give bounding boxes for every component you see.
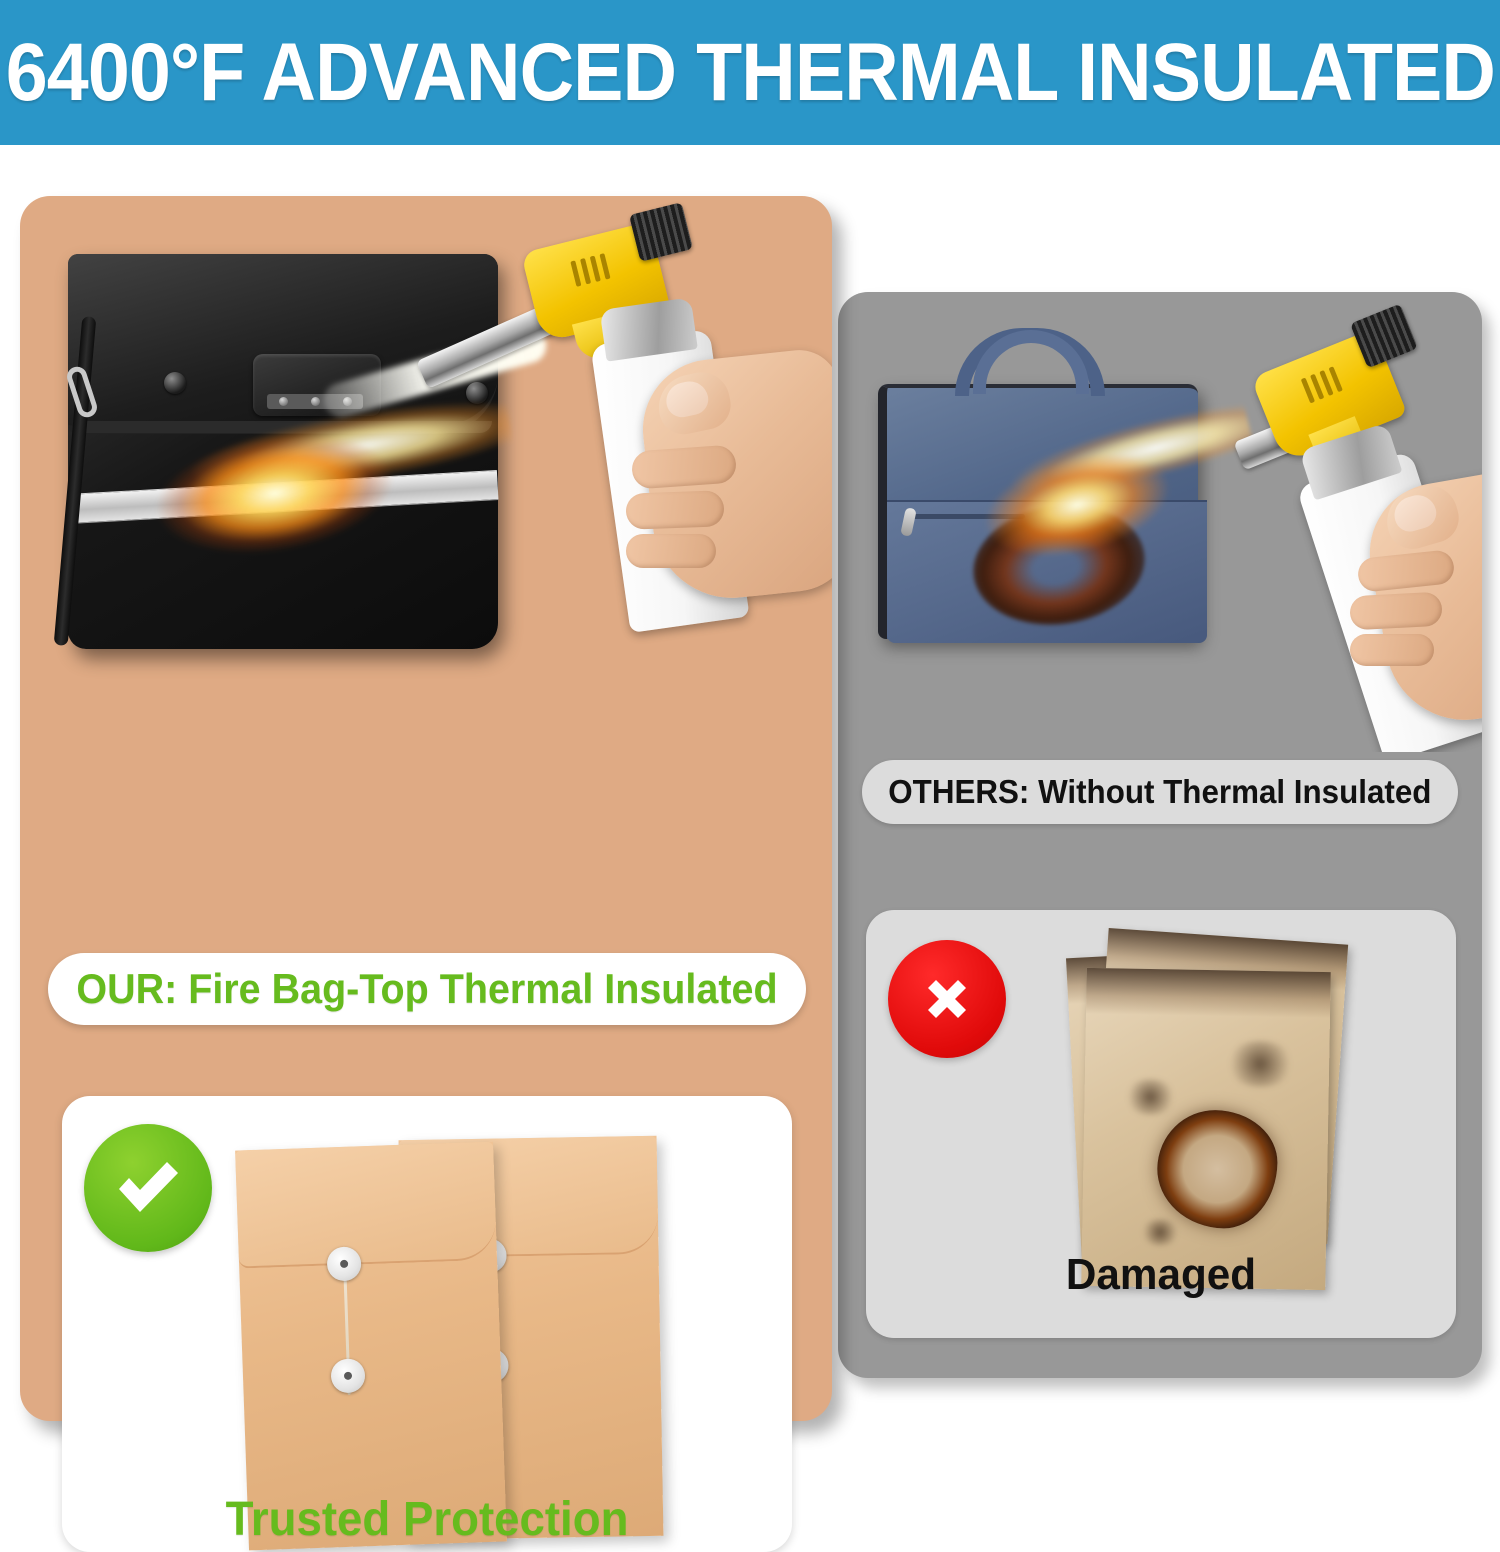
canister-neck: [600, 297, 698, 361]
paper-sheet: [1081, 968, 1331, 1290]
our-label-pill: OUR: Fire Bag-Top Thermal Insulated: [48, 953, 806, 1025]
panel-others: OTHERS: Without Thermal Insulated D: [838, 292, 1482, 1378]
page-title: 6400°F ADVANCED THERMAL INSULATED: [5, 26, 1494, 120]
finger: [1349, 592, 1443, 631]
torch-vents: [570, 251, 619, 287]
burnt-papers-image: [1056, 930, 1356, 1290]
black-fireproof-bag-image: [68, 254, 498, 649]
burn-hole: [1156, 1109, 1278, 1229]
snap-stud-icon: [164, 372, 186, 394]
bag-zipper: [905, 514, 1025, 519]
reflective-strip: [67, 470, 498, 524]
check-circle-icon: [84, 1124, 212, 1252]
envelope-button: [327, 1246, 362, 1281]
panel-our: OUR: Fire Bag-Top Thermal Insulated Trus…: [20, 196, 832, 1421]
snap-stud-icon: [466, 382, 488, 404]
others-result-caption: Damaged: [878, 1250, 1444, 1300]
our-photo: [20, 196, 832, 756]
charred-edge: [1086, 968, 1331, 1018]
x-circle-icon: [888, 940, 1006, 1058]
our-result-caption: Trusted Protection: [80, 1492, 774, 1547]
finger: [626, 534, 716, 568]
soot-mark: [1225, 1040, 1296, 1087]
header-banner: 6400°F ADVANCED THERMAL INSULATED: [0, 0, 1500, 145]
our-result-card: [62, 1096, 792, 1552]
blue-laptop-bag-image: [878, 384, 1198, 639]
envelope-flap: [235, 1142, 497, 1269]
finger: [1350, 634, 1434, 666]
soot-mark: [1140, 1219, 1180, 1246]
torch-cap: [629, 202, 693, 262]
envelope-button: [330, 1358, 365, 1393]
others-label-text: OTHERS: Without Thermal Insulated: [888, 773, 1431, 811]
torch-vents: [1301, 363, 1352, 404]
our-label-text: OUR: Fire Bag-Top Thermal Insulated: [76, 965, 777, 1013]
finger: [631, 444, 737, 489]
manila-envelope-image: [235, 1142, 507, 1551]
finger: [625, 490, 724, 529]
soot-mark: [1124, 1079, 1177, 1116]
others-photo: [838, 292, 1482, 752]
others-label-pill: OTHERS: Without Thermal Insulated: [862, 760, 1458, 824]
